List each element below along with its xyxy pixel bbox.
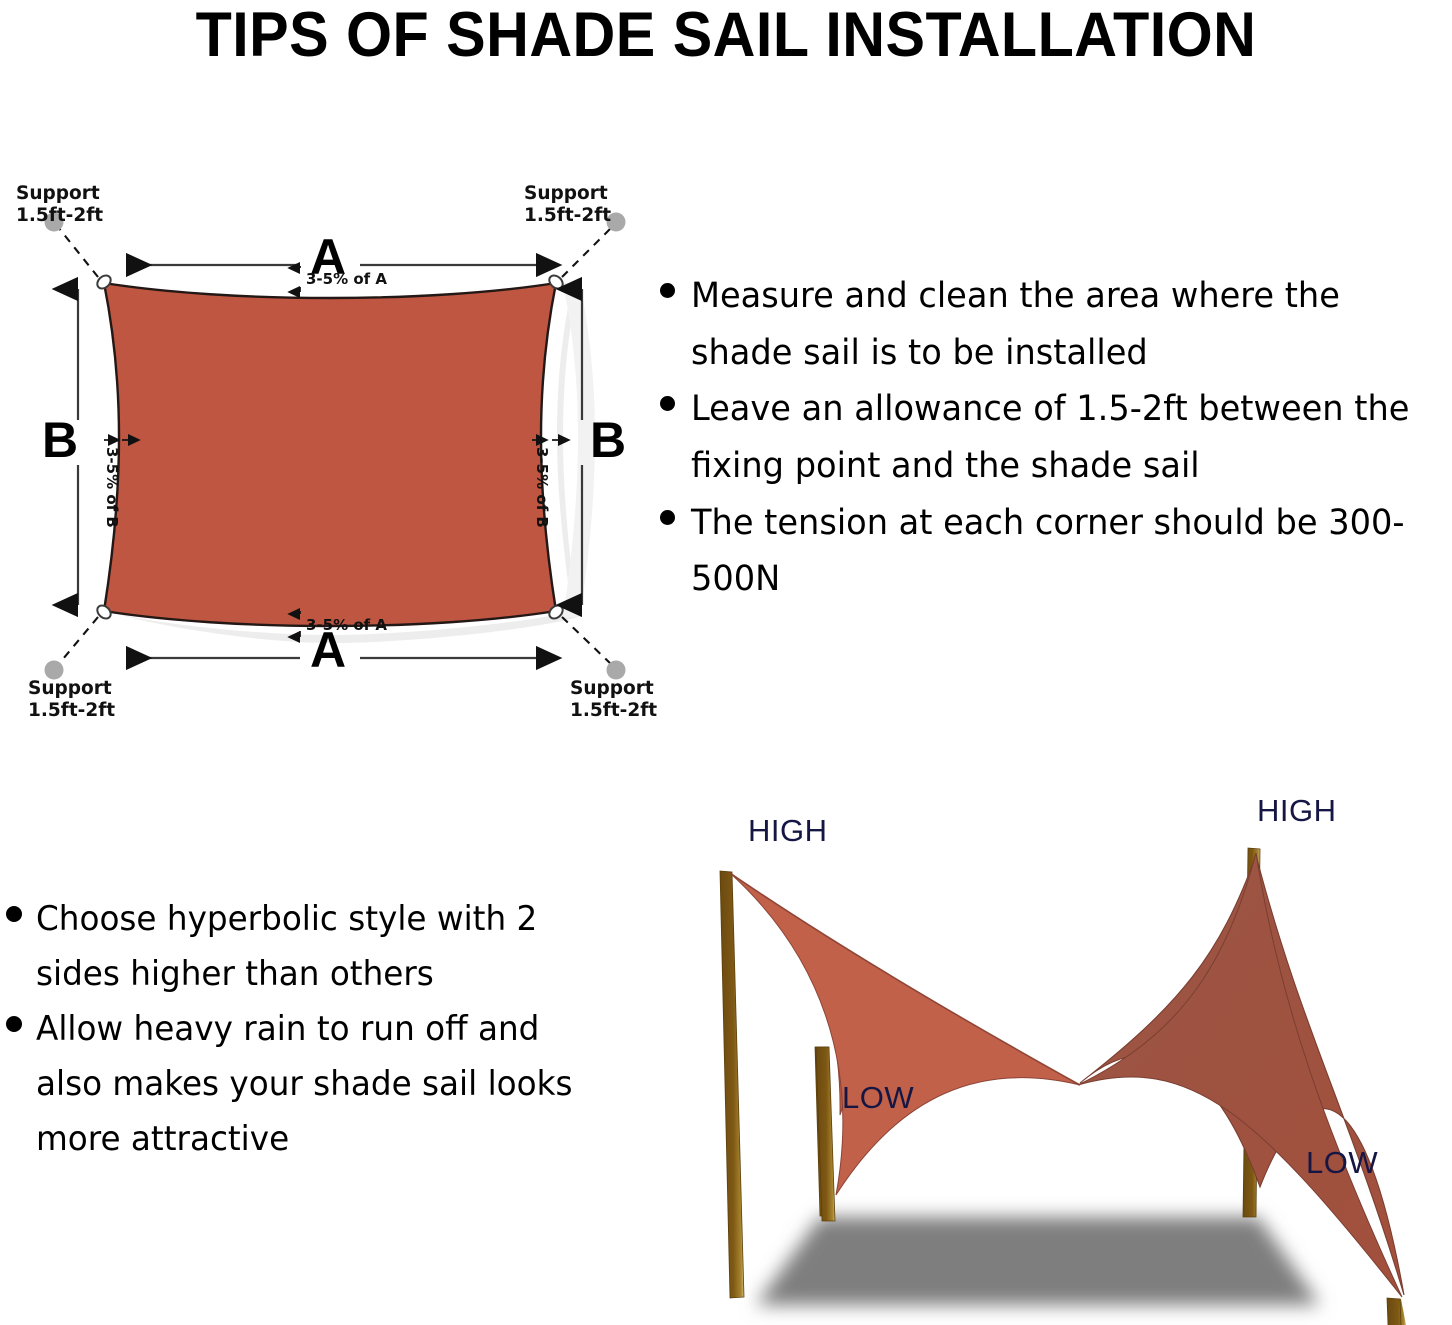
support-label-line1: Support — [524, 183, 611, 205]
support-label-line2: 1.5ft-2ft — [570, 700, 657, 722]
list-item: Allow heavy rain to run off and also mak… — [6, 1002, 636, 1167]
list-item-text: Allow heavy rain to run off and also mak… — [36, 1002, 612, 1167]
installation-tips-list: Measure and clean the area where the sha… — [660, 268, 1452, 608]
support-label-line2: 1.5ft-2ft — [524, 205, 611, 227]
support-label-line1: Support — [570, 678, 657, 700]
hyperbolic-style-tips-list: Choose hyperbolic style with 2 sides hig… — [6, 892, 636, 1167]
rectangular-sail-diagram: Support 1.5ft-2ft Support 1.5ft-2ft Supp… — [0, 165, 660, 730]
support-label-bottom-right: Support 1.5ft-2ft — [570, 678, 657, 722]
label-low-left: LOW — [842, 1080, 914, 1116]
list-item: The tension at each corner should be 300… — [660, 495, 1452, 608]
curve-callout-bottom: 3-5% of A — [306, 617, 387, 635]
sail-center-wedge — [730, 873, 1080, 1195]
support-label-line1: Support — [28, 678, 115, 700]
list-item: Measure and clean the area where the sha… — [660, 268, 1452, 381]
support-label-bottom-left: Support 1.5ft-2ft — [28, 678, 115, 722]
list-item: Leave an allowance of 1.5-2ft between th… — [660, 381, 1452, 494]
sail-shape — [104, 283, 556, 626]
support-label-line1: Support — [16, 183, 103, 205]
support-label-top-left: Support 1.5ft-2ft — [16, 183, 103, 227]
dimension-letter-b-left: B — [42, 415, 78, 465]
bullet-dot-icon — [660, 283, 675, 298]
list-item-text: Measure and clean the area where the sha… — [691, 268, 1429, 381]
bullet-dot-icon — [6, 1016, 22, 1032]
curve-callout-left: 3-5% of B — [102, 447, 120, 528]
list-item-text: The tension at each corner should be 300… — [691, 495, 1429, 608]
hyper-diagram-svg — [660, 785, 1452, 1325]
label-low-right: LOW — [1306, 1145, 1378, 1181]
hyperbolic-sail-diagram: HIGH HIGH LOW LOW — [660, 785, 1452, 1325]
page-title: TIPS OF SHADE SAIL INSTALLATION — [44, 2, 1409, 68]
curve-callout-right: 3-5% of B — [532, 447, 550, 528]
curve-callout-top: 3-5% of A — [306, 271, 387, 289]
support-label-line2: 1.5ft-2ft — [28, 700, 115, 722]
bullet-dot-icon — [6, 906, 22, 922]
support-label-line2: 1.5ft-2ft — [16, 205, 103, 227]
list-item: Choose hyperbolic style with 2 sides hig… — [6, 892, 636, 1002]
ground-shadow — [756, 1217, 1320, 1305]
list-item-text: Choose hyperbolic style with 2 sides hig… — [36, 892, 612, 1002]
dimension-letter-b-right: B — [590, 415, 626, 465]
label-high-right: HIGH — [1257, 793, 1337, 829]
list-item-text: Leave an allowance of 1.5-2ft between th… — [691, 381, 1429, 494]
bullet-dot-icon — [660, 396, 675, 411]
label-high-left: HIGH — [748, 813, 828, 849]
bullet-dot-icon — [660, 510, 675, 525]
support-label-top-right: Support 1.5ft-2ft — [524, 183, 611, 227]
